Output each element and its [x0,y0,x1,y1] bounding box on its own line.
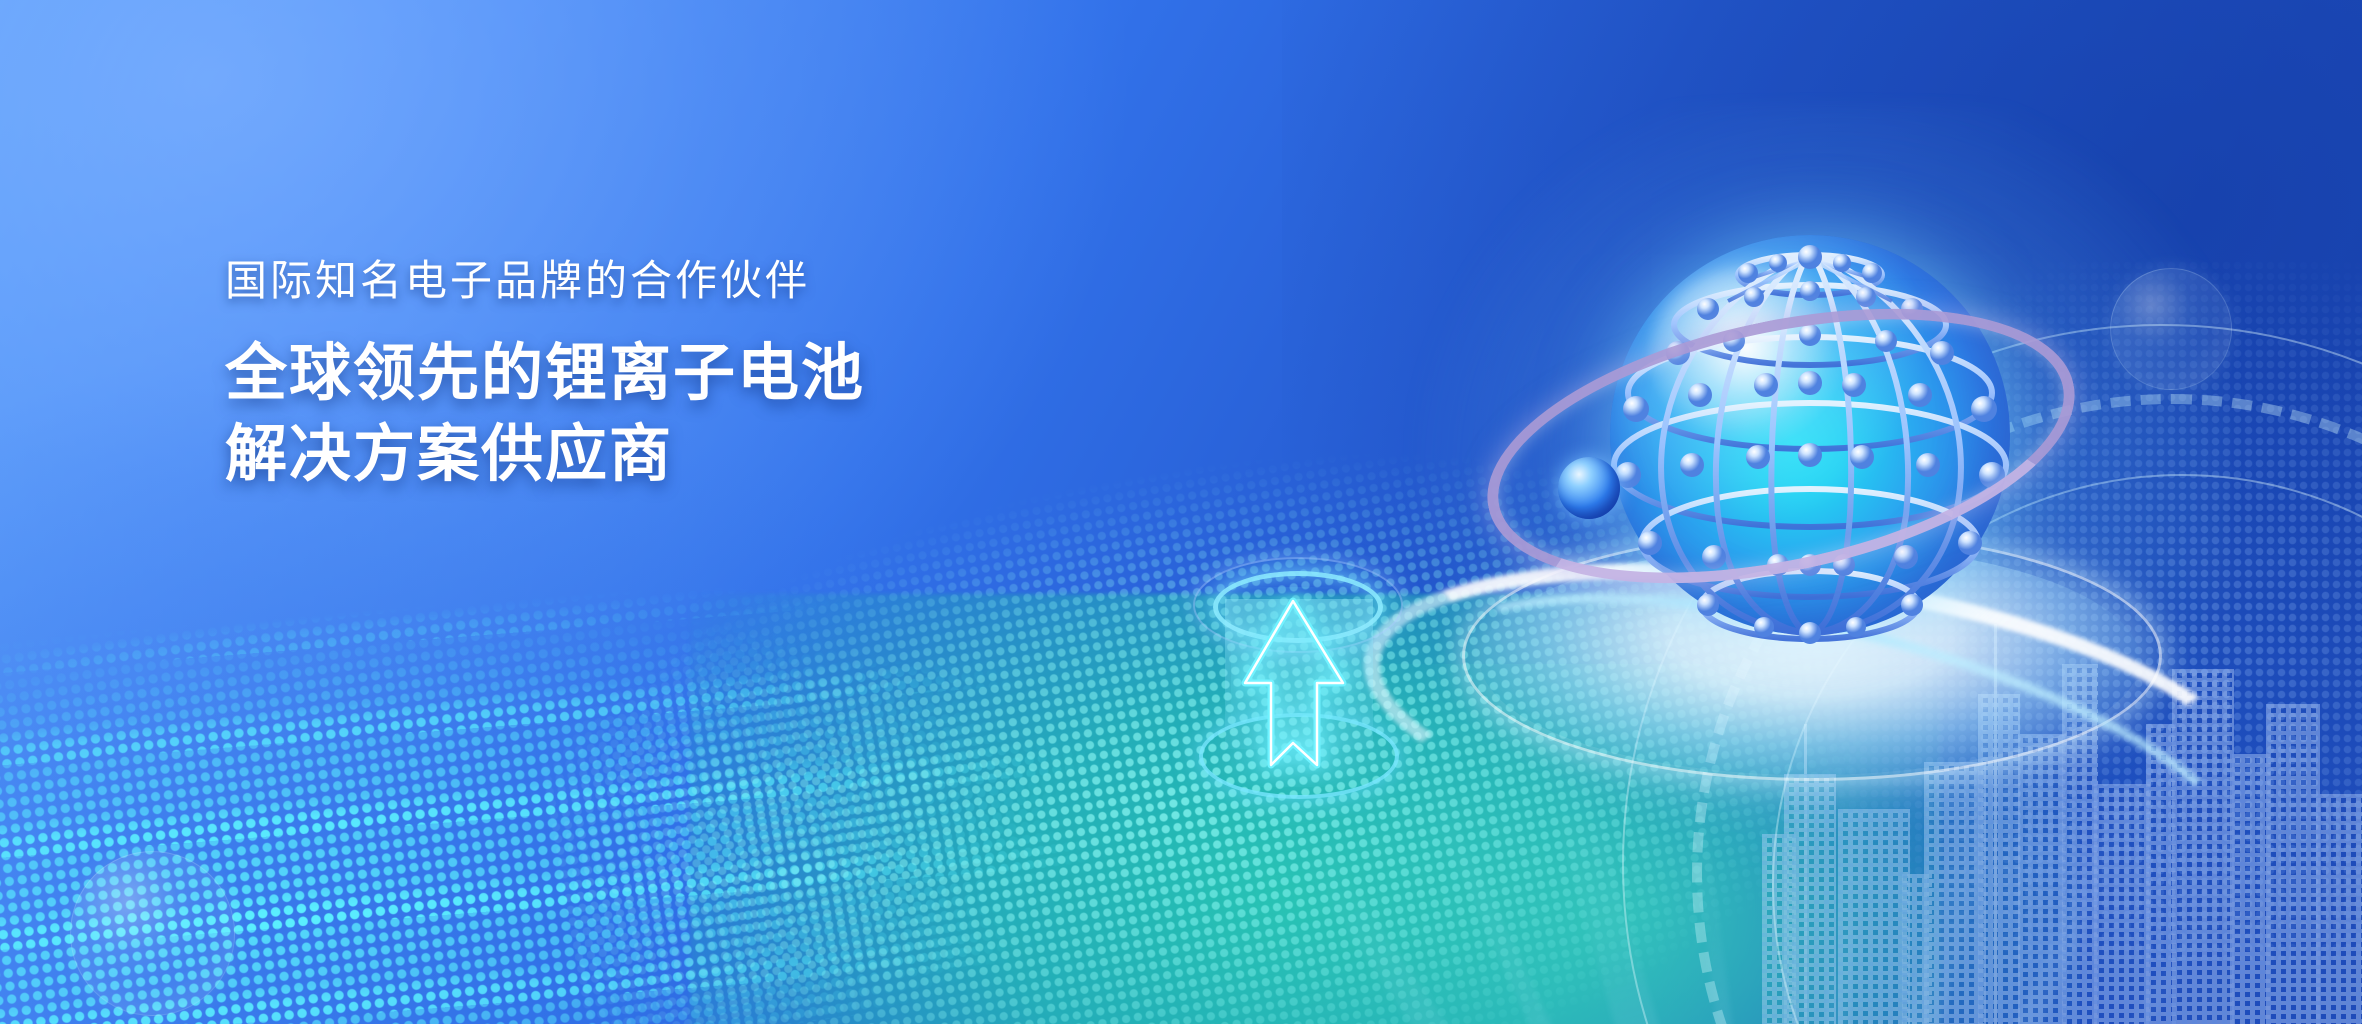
translucent-bubble-icon-top-right [2110,268,2232,390]
translucent-bubble-icon-bottom-left [70,851,235,1016]
hero-banner: 国际知名电子品牌的合作伙伴 全球领先的锂离子电池 解决方案供应商 [0,0,2362,1024]
banner-headline: 全球领先的锂离子电池 解决方案供应商 [225,334,1225,495]
headline-line-1: 全球领先的锂离子电池 [225,334,1225,415]
wireframe-globe-icon [1540,205,2100,725]
hero-copy-block: 国际知名电子品牌的合作伙伴 全球领先的锂离子电池 解决方案供应商 [225,256,1225,496]
orbit-node-icon [1558,457,1620,519]
headline-line-2: 解决方案供应商 [225,415,1225,496]
banner-eyebrow: 国际知名电子品牌的合作伙伴 [225,256,1225,306]
upward-arrow-icon [1231,587,1361,787]
upward-arrow-portal [1185,565,1475,815]
